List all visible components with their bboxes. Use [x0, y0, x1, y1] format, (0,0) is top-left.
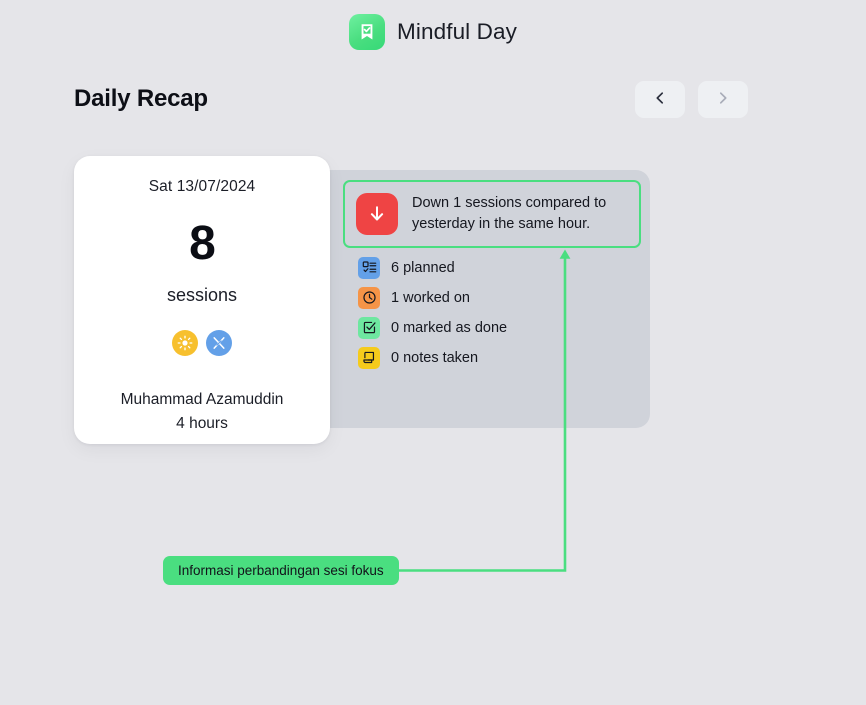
card-duration: 4 hours — [176, 415, 228, 433]
checkbox-checked-icon — [358, 317, 380, 339]
stat-row-worked-on: 1 worked on — [358, 287, 507, 308]
note-scroll-icon — [358, 347, 380, 369]
clock-icon — [358, 287, 380, 309]
arrow-down-icon — [356, 193, 398, 235]
list-check-icon — [358, 257, 380, 279]
card-date: Sat 13/07/2024 — [149, 178, 256, 196]
chevron-left-icon — [652, 90, 668, 109]
stat-list: 6 planned 1 worked on 0 marked as done — [358, 257, 507, 368]
chevron-right-icon — [715, 90, 731, 109]
stat-label-planned: 6 planned — [391, 260, 455, 276]
comparison-message: Down 1 sessions compared to yesterday in… — [412, 193, 628, 234]
session-count-unit: sessions — [167, 285, 237, 306]
next-day-button[interactable] — [698, 81, 748, 118]
day-summary-card[interactable]: Sat 13/07/2024 8 sessions Muhamma — [74, 156, 330, 444]
day-navigation — [635, 81, 748, 118]
crossed-swords-icon — [206, 330, 232, 356]
card-owner-name: Muhammad Azamuddin — [121, 391, 284, 409]
annotation-label: Informasi perbandingan sesi fokus — [163, 556, 399, 585]
comparison-banner[interactable]: Down 1 sessions compared to yesterday in… — [343, 180, 641, 248]
app-name: Mindful Day — [397, 19, 517, 45]
app-brand-header: Mindful Day — [0, 14, 866, 50]
stat-row-notes: 0 notes taken — [358, 347, 507, 368]
page-title: Daily Recap — [74, 85, 208, 113]
stat-label-notes: 0 notes taken — [391, 350, 478, 366]
bookmark-check-icon — [349, 14, 385, 50]
stat-label-done: 0 marked as done — [391, 320, 507, 336]
stat-row-planned: 6 planned — [358, 257, 507, 278]
sun-icon — [172, 330, 198, 356]
prev-day-button[interactable] — [635, 81, 685, 118]
stat-row-done: 0 marked as done — [358, 317, 507, 338]
card-badges — [172, 330, 232, 356]
stat-label-worked-on: 1 worked on — [391, 290, 470, 306]
page-header-row: Daily Recap — [74, 78, 748, 120]
session-count: 8 — [189, 220, 215, 268]
